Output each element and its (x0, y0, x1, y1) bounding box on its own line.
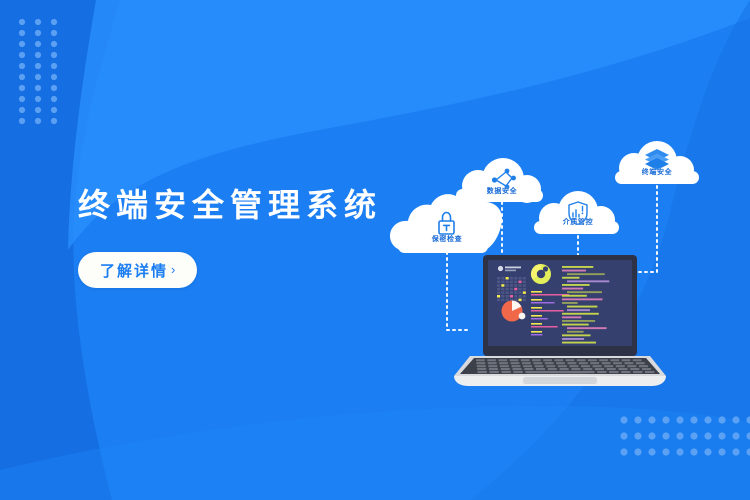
cloud-label-zhongduan-anquan: 终端安全 (642, 167, 672, 177)
connector-cloud-3 (638, 186, 657, 272)
cloud-shuju-anquan (456, 158, 543, 203)
cloud-label-baomi-jiancha: 保密检查 (432, 234, 462, 244)
dot-matrix-widget (497, 277, 526, 301)
learn-more-button[interactable]: 了解详情 › (78, 252, 197, 288)
cloud-jiezhi-guankong (534, 191, 619, 234)
cloud-label-jiezhi-guankong: 介质管控 (563, 217, 593, 227)
chevron-right-icon: › (171, 262, 175, 277)
cloud-label-shuju-anquan: 数据安全 (487, 186, 517, 196)
learn-more-label: 了解详情 (100, 260, 168, 281)
promo-banner: 终端安全管理系统 了解详情 › 保密检查 数据安全 介质管控 终端安全 (0, 0, 750, 500)
cloud-zhongduan-anquan (615, 141, 699, 184)
laptop-illustration (454, 255, 666, 386)
donut-chart-widget (531, 264, 551, 284)
hero-copy: 终端安全管理系统 了解详情 › (78, 186, 418, 288)
laptop-trackpad (523, 377, 597, 384)
connector-cloud-0 (447, 252, 470, 330)
page-title: 终端安全管理系统 (78, 186, 418, 224)
